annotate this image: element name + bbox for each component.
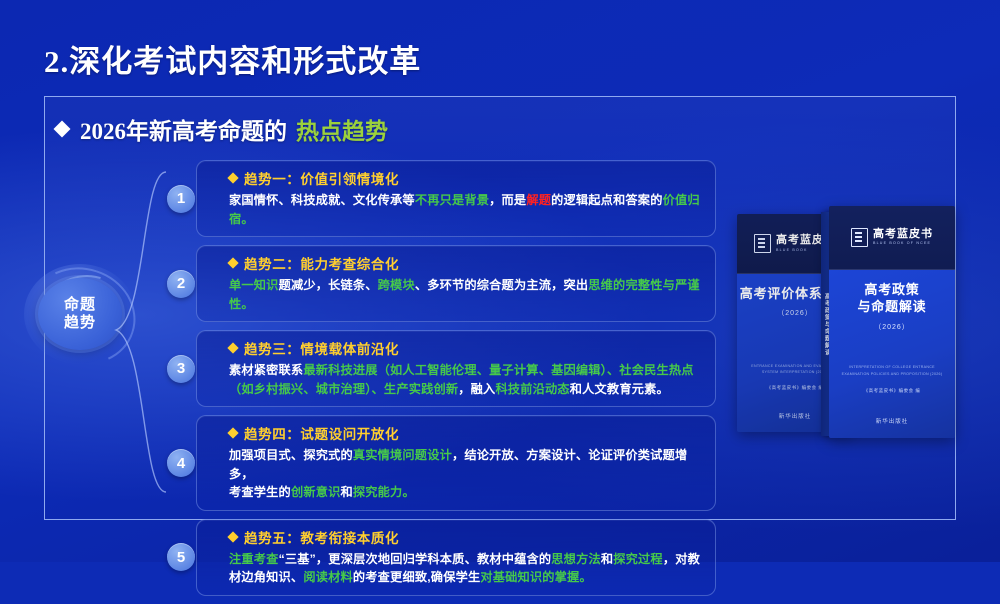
book-left-year: （2026）	[777, 308, 813, 318]
trend-body-segment: 科技前沿动态	[495, 382, 569, 396]
trend-body-segment: 对基础知识的掌握。	[480, 570, 592, 584]
book-right-title: 高考政策 与命题解读	[857, 281, 926, 316]
root-node-label-line2: 趋势	[64, 314, 96, 332]
trend-body-line: 考查学生的创新意识和探究能力。	[229, 483, 703, 502]
diamond-icon	[227, 257, 238, 268]
trend-heading-3: 趋势三：情境载体前沿化	[229, 338, 703, 358]
trend-body-line: 单一知识题减少，长链条、跨模块、多环节的综合题为主流，突出思维的完整性与严谨性。	[229, 276, 703, 313]
trend-body-1: 家国情怀、科技成就、文化传承等不再只是背景，而是解题的逻辑起点和答案的价值归宿。	[229, 191, 703, 228]
trend-body-4: 加强项目式、探究式的真实情境问题设计，结论开放、方案设计、论证评价类试题增多，考…	[229, 446, 703, 502]
trend-body-segment: 和	[341, 485, 353, 499]
book-covers: 高考蓝皮书 BLUE BOOK 高考评价体系解读 （2026） ENTRANCE…	[737, 206, 955, 442]
trend-body-segment: 单一知识	[229, 278, 279, 292]
trend-badge-4: 4	[167, 449, 195, 477]
book-right-editor: 《高考蓝皮书》编委会 编	[829, 388, 955, 394]
trend-heading-2: 趋势二：能力考查综合化	[229, 253, 703, 273]
trend-badge-1: 1	[167, 185, 195, 213]
trend-body-segment: 探究过程	[613, 552, 663, 566]
trend-body-segment: 解题	[526, 193, 551, 207]
trend-body-segment: 思想方法	[551, 552, 601, 566]
diamond-icon	[227, 343, 238, 354]
trend-badge-2: 2	[167, 270, 195, 298]
trend-body-segment: 家国情怀、科技成就、文化传承等	[229, 193, 415, 207]
trend-body-segment: 跨模块	[378, 278, 415, 292]
book-right-english: INTERPRETATION OF COLLEGE ENTRANCE EXAMI…	[837, 364, 947, 376]
diamond-icon	[227, 428, 238, 439]
trend-body-segment: ，而是	[489, 193, 526, 207]
trend-body-segment: 考查学生的	[229, 485, 291, 499]
trend-body-segment: 题减少，长链条、	[279, 278, 378, 292]
diamond-icon	[54, 121, 71, 138]
trend-card-5[interactable]: 5趋势五：教考衔接本质化注重考查“三基”，更深层次地回归学科本质、教材中蕴含的思…	[196, 519, 716, 596]
book-right-brand: 高考蓝皮书 BLUE BOOK OF NCEE	[873, 228, 933, 246]
trend-heading-4: 趋势四：试题设问开放化	[229, 423, 703, 443]
book-logo-icon	[851, 228, 868, 247]
trend-badge-3: 3	[167, 355, 195, 383]
trend-body-line: 注重考查“三基”，更深层次地回归学科本质、教材中蕴含的思想方法和探究过程，对教	[229, 550, 703, 569]
trend-body-segment: 创新意识	[291, 485, 341, 499]
brace-connector-icon	[112, 168, 168, 496]
trend-body-segment: 的考查更细致,确保学生	[353, 570, 480, 584]
trend-body-segment: 注重考查	[229, 552, 279, 566]
trend-heading-text: 趋势四：试题设问开放化	[244, 423, 399, 443]
trend-body-segment: 、多环节的综合题为主流，突出	[415, 278, 588, 292]
trend-body-segment: ，融入	[458, 382, 495, 396]
trend-body-2: 单一知识题减少，长链条、跨模块、多环节的综合题为主流，突出思维的完整性与严谨性。	[229, 276, 703, 313]
trend-body-line: 材边角知识、阅读材料的考查更细致,确保学生对基础知识的掌握。	[229, 568, 703, 587]
trend-card-2[interactable]: 2趋势二：能力考查综合化单一知识题减少，长链条、跨模块、多环节的综合题为主流，突…	[196, 245, 716, 322]
trend-body-segment: “三基”，更深层次地回归学科本质、教材中蕴含的	[279, 552, 552, 566]
trend-body-segment: 探究能力。	[353, 485, 415, 499]
trend-heading-1: 趋势一：价值引领情境化	[229, 168, 703, 188]
trend-body-segment: 真实情境问题设计	[353, 448, 452, 462]
trend-card-1[interactable]: 1趋势一：价值引领情境化家国情怀、科技成就、文化传承等不再只是背景，而是解题的逻…	[196, 160, 716, 237]
trend-body-line: 家国情怀、科技成就、文化传承等不再只是背景，而是解题的逻辑起点和答案的价值归宿。	[229, 191, 703, 228]
trend-body-line: （如乡村振兴、城市治理）、生产实践创新，融入科技前沿动态和人文教育元素。	[229, 380, 703, 399]
section-subtitle: 2026年新高考命题的 热点趋势	[56, 112, 388, 146]
book-right-year: （2026）	[874, 322, 910, 332]
book-right: 高考蓝皮书 BLUE BOOK OF NCEE 高考政策 与命题解读 （2026…	[829, 206, 955, 438]
book-right-header: 高考蓝皮书 BLUE BOOK OF NCEE	[829, 206, 955, 270]
trend-list: 1趋势一：价值引领情境化家国情怀、科技成就、文化传承等不再只是背景，而是解题的逻…	[196, 160, 716, 604]
trend-heading-text: 趋势五：教考衔接本质化	[244, 527, 399, 547]
root-node-label-line1: 命题	[64, 296, 96, 314]
trend-heading-text: 趋势一：价值引领情境化	[244, 168, 399, 188]
trend-heading-text: 趋势二：能力考查综合化	[244, 253, 399, 273]
subtitle-text-highlight: 热点趋势	[296, 112, 388, 146]
trend-card-3[interactable]: 3趋势三：情境载体前沿化素材紧密联系最新科技进展（如人工智能伦理、量子计算、基因…	[196, 330, 716, 407]
trend-body-segment: 和	[601, 552, 613, 566]
slide-background: 2.深化考试内容和形式改革 2026年新高考命题的 热点趋势 命题 趋势 1趋势…	[0, 0, 1000, 562]
trend-body-segment: 和人文教育元素。	[570, 382, 669, 396]
book-logo-icon	[754, 234, 771, 253]
trend-body-line: 素材紧密联系最新科技进展（如人工智能伦理、量子计算、基因编辑）、社会民生热点	[229, 361, 703, 380]
trend-body-line: 加强项目式、探究式的真实情境问题设计，结论开放、方案设计、论证评价类试题增多，	[229, 446, 703, 483]
diamond-icon	[227, 531, 238, 542]
subtitle-text-white: 2026年新高考命题的	[80, 112, 287, 146]
book-right-publisher: 新华出版社	[829, 417, 955, 425]
trend-body-segment: ，对教	[663, 552, 700, 566]
page-title: 2.深化考试内容和形式改革	[44, 36, 421, 81]
trend-body-segment: 素材紧密联系	[229, 363, 303, 377]
trend-heading-5: 趋势五：教考衔接本质化	[229, 527, 703, 547]
trend-card-4[interactable]: 4趋势四：试题设问开放化加强项目式、探究式的真实情境问题设计，结论开放、方案设计…	[196, 415, 716, 511]
trend-body-segment: 的逻辑起点和答案的	[551, 193, 663, 207]
trend-body-segment: 材边角知识、	[229, 570, 303, 584]
book-right-body: 高考政策 与命题解读 （2026） INTERPRETATION OF COLL…	[829, 270, 955, 438]
root-node-circle: 命题 趋势	[38, 278, 122, 350]
trend-body-5: 注重考查“三基”，更深层次地回归学科本质、教材中蕴含的思想方法和探究过程，对教材…	[229, 550, 703, 587]
trend-body-3: 素材紧密联系最新科技进展（如人工智能伦理、量子计算、基因编辑）、社会民生热点（如…	[229, 361, 703, 398]
trend-body-segment: 不再只是背景	[415, 193, 489, 207]
trend-badge-5: 5	[167, 543, 195, 571]
trend-body-segment: 阅读材料	[303, 570, 353, 584]
trend-body-segment: （如乡村振兴、城市治理）、生产实践创新	[229, 382, 458, 396]
trend-body-segment: 加强项目式、探究式的	[229, 448, 353, 462]
trend-body-segment: 最新科技进展（如人工智能伦理、量子计算、基因编辑）、社会民生热点	[303, 363, 693, 377]
diamond-icon	[227, 172, 238, 183]
trend-heading-text: 趋势三：情境载体前沿化	[244, 338, 399, 358]
